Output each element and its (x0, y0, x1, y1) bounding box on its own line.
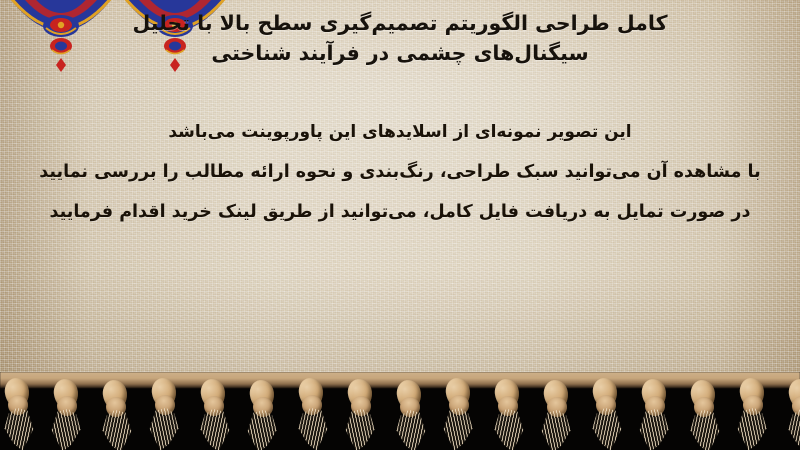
fringe-tassel (486, 379, 530, 449)
slide-title: کامل طراحی الگوریتم تصمیم‌گیری سطح بالا … (0, 8, 800, 68)
tassel-strands (440, 406, 478, 450)
tassel-strands (391, 408, 429, 450)
tassel-strands (636, 407, 674, 450)
fringe-tassel (241, 380, 285, 450)
tassel-strands (97, 408, 135, 450)
fringe-tassel (682, 380, 726, 450)
tassel-strands (538, 408, 576, 450)
tassel-strands (0, 406, 37, 450)
fringe-tassel (535, 380, 579, 450)
body-line-1: این تصویر نمونه‌ای از اسلایدهای این پاور… (28, 112, 772, 152)
tassel-strands (342, 407, 380, 450)
carpet-fringe-band (0, 372, 800, 450)
fringe-tassel (339, 379, 383, 449)
tassel-strands (734, 406, 772, 450)
fringe-tassel (192, 379, 236, 449)
fringe-tassel (731, 378, 775, 448)
fringe-tassel (143, 378, 187, 448)
fringe-tassel (780, 379, 800, 449)
tassel-strands (48, 407, 86, 450)
fringe-tassel (45, 379, 89, 449)
fringe-tassel (633, 379, 677, 449)
tassel-strands (195, 407, 233, 450)
tassel-strands (146, 406, 184, 450)
body-line-3: در صورت تمایل به دریافت فایل کامل، می‌تو… (28, 192, 772, 232)
tassel-strands (293, 406, 331, 450)
fringe-tassel (0, 378, 40, 448)
tassel-strands (489, 407, 527, 450)
tassel-strands (587, 406, 625, 450)
fringe-tassel (584, 378, 628, 448)
body-line-2: با مشاهده آن می‌توانید سبک طراحی، رنگ‌بن… (28, 152, 772, 192)
fringe-tassel (388, 380, 432, 450)
slide-title-line-2: سیگنال‌های چشمی در فرآیند شناختی (40, 38, 760, 68)
fringe-tassel (437, 378, 481, 448)
tassel-strands (783, 407, 800, 450)
tassel-strands (685, 408, 723, 450)
fringe-tassel (94, 380, 138, 450)
slide-canvas: کامل طراحی الگوریتم تصمیم‌گیری سطح بالا … (0, 0, 800, 450)
tassel-strands (244, 408, 282, 450)
fringe-tassel (290, 378, 334, 448)
slide-body-text: این تصویر نمونه‌ای از اسلایدهای این پاور… (0, 112, 800, 232)
slide-title-line-1: کامل طراحی الگوریتم تصمیم‌گیری سطح بالا … (133, 11, 668, 35)
